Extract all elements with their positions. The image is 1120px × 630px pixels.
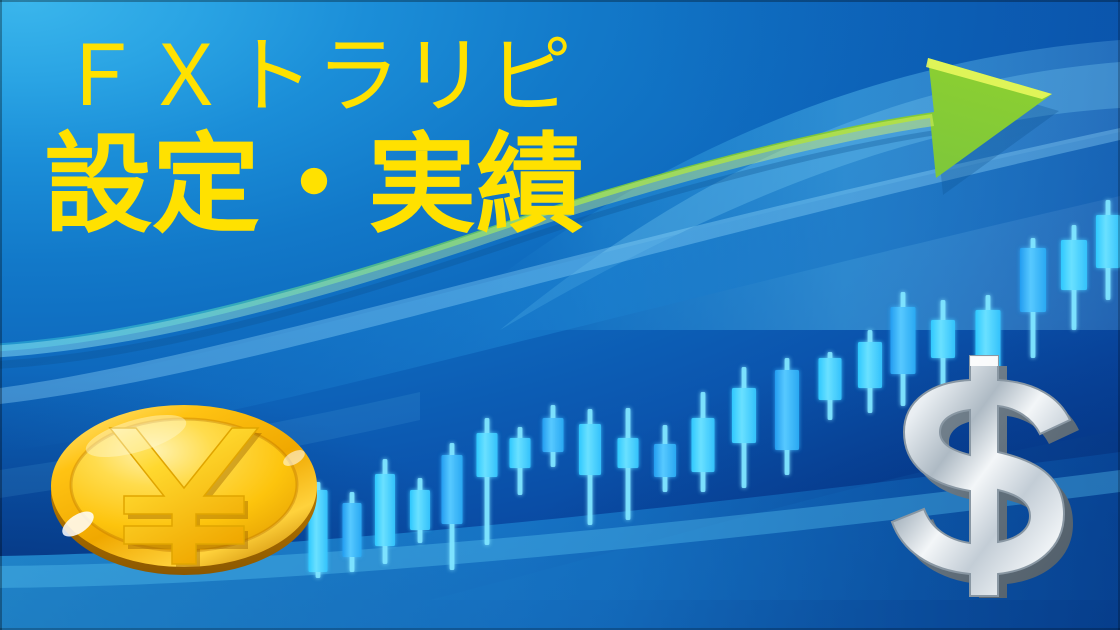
dollar-sign [872, 352, 1092, 598]
yen-coin [48, 396, 320, 578]
fx-banner: ＦＸトラリピ 設定・実績 [0, 0, 1120, 630]
yen-coin-graphic [48, 396, 320, 578]
dollar-sign-graphic [872, 352, 1092, 598]
headline: ＦＸトラリピ 設定・実績 [0, 0, 720, 240]
dollar-top-shine [970, 356, 998, 366]
headline-line-2: 設定・実績 [44, 132, 720, 240]
headline-line-1: ＦＸトラリピ [58, 34, 720, 118]
